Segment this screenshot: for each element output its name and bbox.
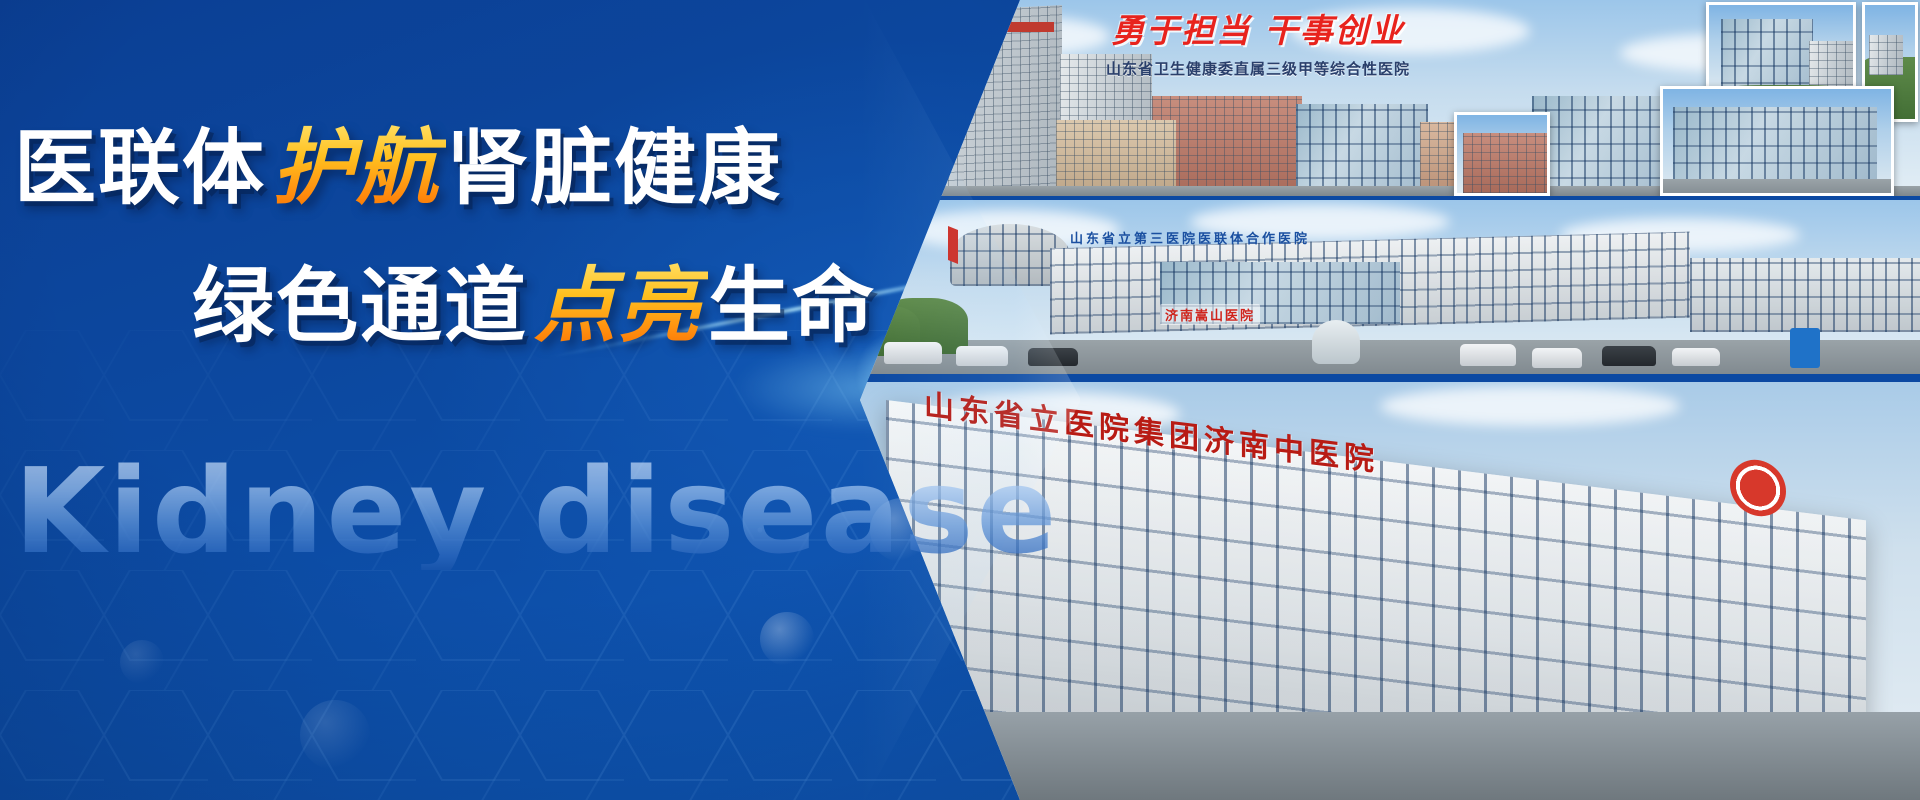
inset-photo-hospital-3 — [1660, 86, 1894, 196]
flag-icon — [948, 226, 958, 264]
kidney-health-banner: 勇于担当 干事创业 山东省卫生健康委直属三级甲等综合性医院 山东省 — [0, 0, 1920, 800]
building-sign-primary: 山东省立第三医院医联体合作医院 — [1070, 228, 1310, 247]
inset-photo-hospital-1 — [1706, 2, 1856, 98]
photo-separator-bottom — [860, 374, 1920, 382]
building-sign-secondary: 济南嵩山医院 — [1160, 304, 1260, 325]
photo-top-collage: 勇于担当 干事创业 山东省卫生健康委直属三级甲等综合性医院 — [860, 0, 1920, 196]
signage-board — [1790, 328, 1820, 368]
photo-collage-panel: 勇于担当 干事创业 山东省卫生健康委直属三级甲等综合性医院 山东省 — [860, 0, 1920, 800]
photo-bottom-hospital: 山东省立医院集团济南中医院 — [860, 382, 1920, 800]
photo-middle-hospital: 山东省立第三医院医联体合作医院 济南嵩山医院 — [860, 200, 1920, 378]
fountain-icon — [1312, 320, 1360, 364]
inset-photo-hospital-4 — [1454, 112, 1550, 196]
